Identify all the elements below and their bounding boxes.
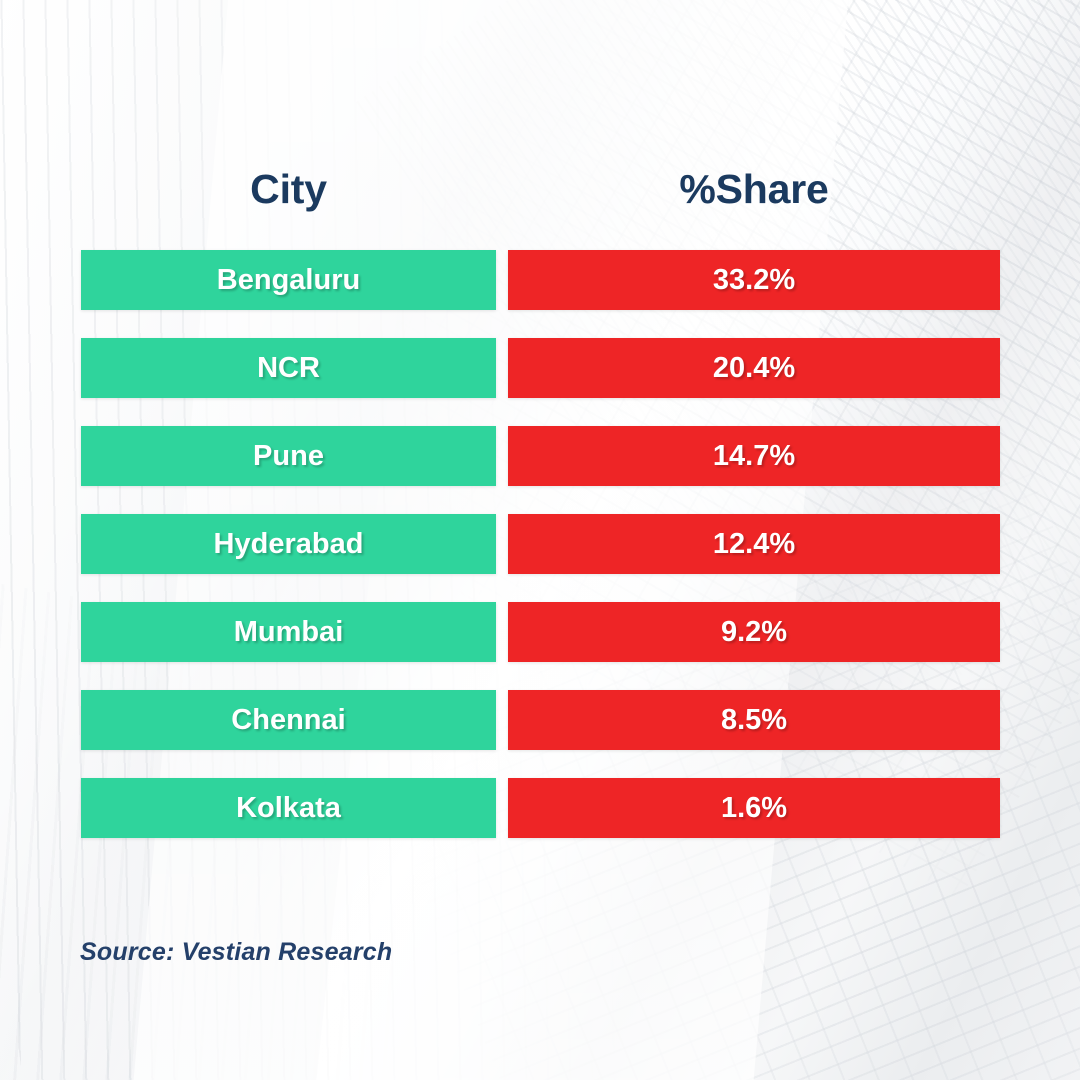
table-row: Pune14.7% bbox=[0, 426, 1080, 486]
table-row: Kolkata1.6% bbox=[0, 778, 1080, 838]
share-cell: 9.2% bbox=[508, 602, 1000, 662]
share-cell: 20.4% bbox=[508, 338, 1000, 398]
table-row: Hyderabad12.4% bbox=[0, 514, 1080, 574]
table-header-row: City %Share bbox=[81, 158, 1000, 220]
city-cell: Pune bbox=[81, 426, 496, 486]
table-row: Bengaluru33.2% bbox=[0, 250, 1080, 310]
share-cell: 8.5% bbox=[508, 690, 1000, 750]
city-cell: NCR bbox=[81, 338, 496, 398]
city-cell: Chennai bbox=[81, 690, 496, 750]
city-cell: Hyderabad bbox=[81, 514, 496, 574]
source-note: Source: Vestian Research bbox=[80, 938, 392, 967]
share-cell: 14.7% bbox=[508, 426, 1000, 486]
share-cell: 33.2% bbox=[508, 250, 1000, 310]
table-row: Mumbai9.2% bbox=[0, 602, 1080, 662]
city-cell: Bengaluru bbox=[81, 250, 496, 310]
table-row: NCR20.4% bbox=[0, 338, 1080, 398]
infographic-canvas: City %Share Bengaluru33.2%NCR20.4%Pune14… bbox=[0, 0, 1080, 1080]
table-row: Chennai8.5% bbox=[0, 690, 1080, 750]
column-header-share: %Share bbox=[508, 158, 1000, 220]
infographic-content: City %Share Bengaluru33.2%NCR20.4%Pune14… bbox=[0, 0, 1080, 1080]
share-cell: 1.6% bbox=[508, 778, 1000, 838]
column-header-city: City bbox=[81, 158, 496, 220]
city-cell: Mumbai bbox=[81, 602, 496, 662]
share-cell: 12.4% bbox=[508, 514, 1000, 574]
table-body: Bengaluru33.2%NCR20.4%Pune14.7%Hyderabad… bbox=[0, 250, 1080, 838]
city-cell: Kolkata bbox=[81, 778, 496, 838]
